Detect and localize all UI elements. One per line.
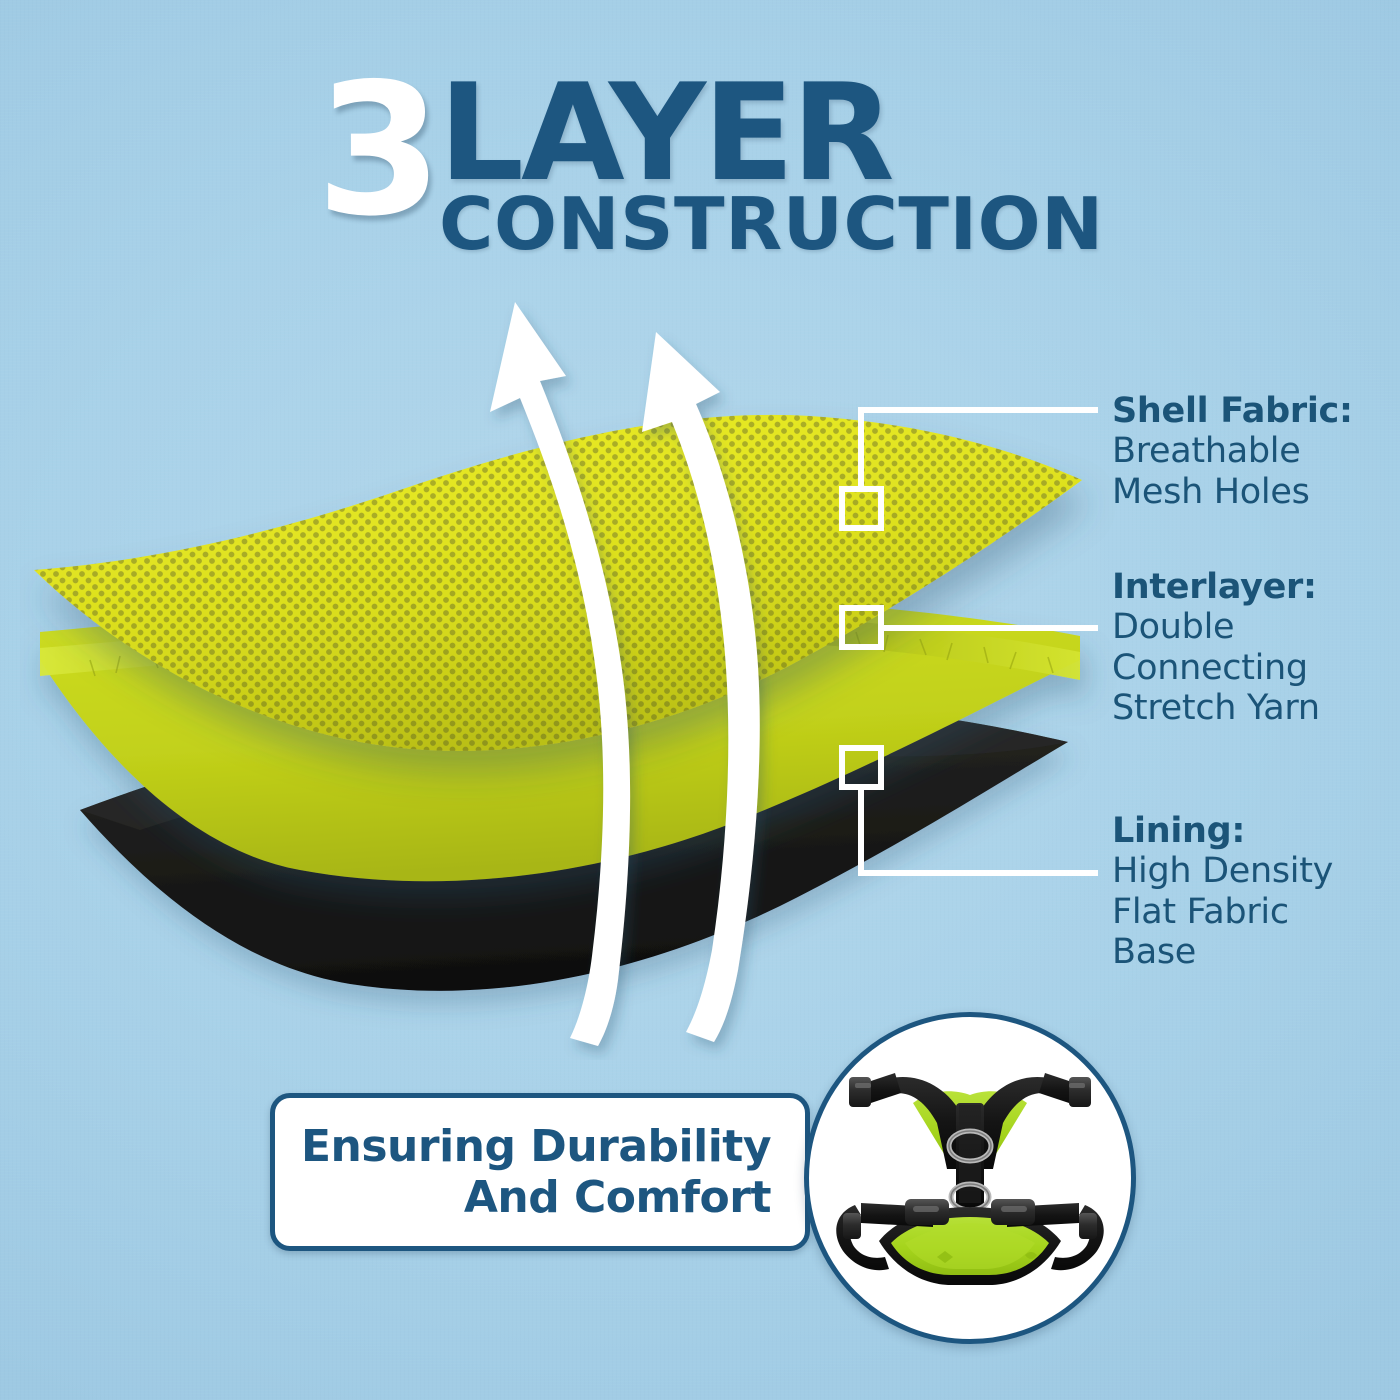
callout-lining-line-1: High Density bbox=[1112, 851, 1392, 892]
callout-lining: Lining: High Density Flat Fabric Base bbox=[1112, 812, 1392, 973]
tagline-line-2: And Comfort bbox=[301, 1172, 771, 1223]
airflow-arrows bbox=[420, 280, 800, 1060]
callout-interlayer-line-2: Connecting bbox=[1112, 648, 1382, 689]
dog-harness-illustration bbox=[809, 1017, 1131, 1339]
callout-shell-line-1: Breathable bbox=[1112, 431, 1382, 472]
callout-interlayer-line-3: Stretch Yarn bbox=[1112, 688, 1382, 729]
tagline-banner: Ensuring Durability And Comfort bbox=[270, 1093, 810, 1251]
callout-lining-line-3: Base bbox=[1112, 932, 1392, 973]
callout-interlayer: Interlayer: Double Connecting Stretch Ya… bbox=[1112, 568, 1382, 729]
callout-lining-title: Lining: bbox=[1112, 812, 1392, 851]
callout-lining-line-2: Flat Fabric bbox=[1112, 892, 1392, 933]
airflow-arrow-right bbox=[642, 332, 760, 1042]
airflow-arrow-left bbox=[490, 302, 630, 1046]
callout-shell-line-2: Mesh Holes bbox=[1112, 472, 1382, 513]
product-photo-circle bbox=[804, 1012, 1136, 1344]
callout-interlayer-line-1: Double bbox=[1112, 607, 1382, 648]
callout-interlayer-title: Interlayer: bbox=[1112, 568, 1382, 607]
callout-shell-title: Shell Fabric: bbox=[1112, 392, 1382, 431]
infographic-canvas: 3 LAYER CONSTRUCTION bbox=[0, 0, 1400, 1400]
callout-shell-fabric: Shell Fabric: Breathable Mesh Holes bbox=[1112, 392, 1382, 512]
tagline-line-1: Ensuring Durability bbox=[301, 1121, 771, 1172]
